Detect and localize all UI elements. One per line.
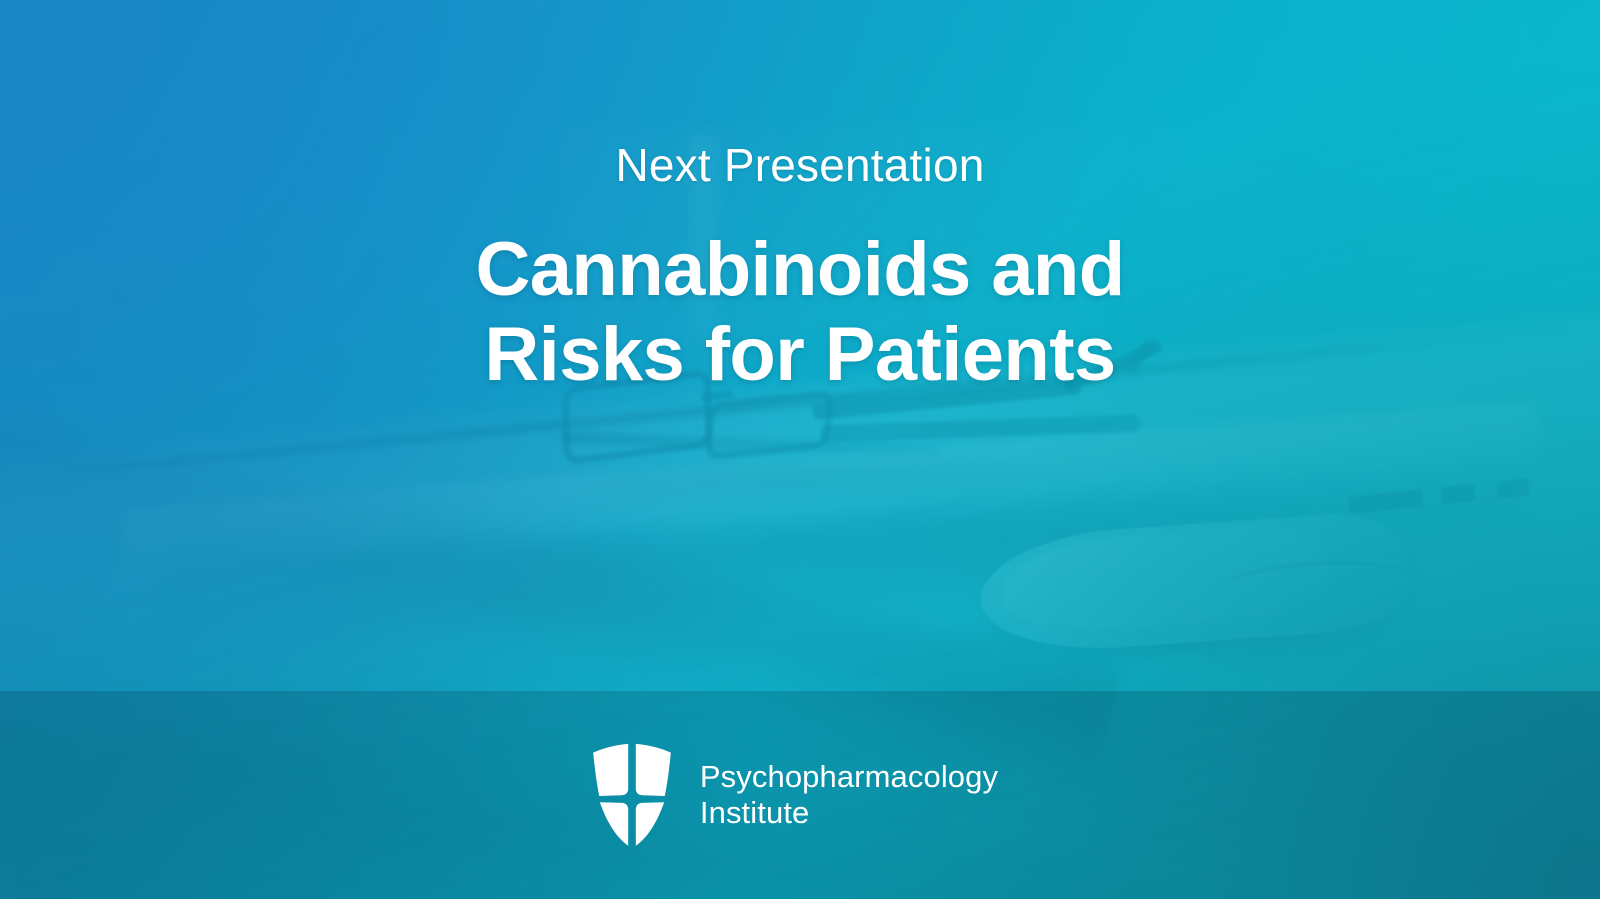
presentation-title-line-2: Risks for Patients bbox=[270, 312, 1330, 397]
brand-name: Psychopharmacology Institute bbox=[700, 759, 998, 831]
brand-footer-bar: Psychopharmacology Institute bbox=[0, 691, 1600, 899]
next-presentation-label: Next Presentation bbox=[615, 140, 984, 191]
brand-lockup: Psychopharmacology Institute bbox=[590, 743, 998, 847]
presentation-title-line-1: Cannabinoids and bbox=[270, 227, 1330, 312]
presentation-title: Cannabinoids and Risks for Patients bbox=[270, 227, 1330, 397]
brand-name-line-1: Psychopharmacology bbox=[700, 759, 998, 795]
presentation-slide: Next Presentation Cannabinoids and Risks… bbox=[0, 0, 1600, 899]
shield-logo-icon bbox=[590, 743, 674, 847]
brand-name-line-2: Institute bbox=[700, 795, 998, 831]
